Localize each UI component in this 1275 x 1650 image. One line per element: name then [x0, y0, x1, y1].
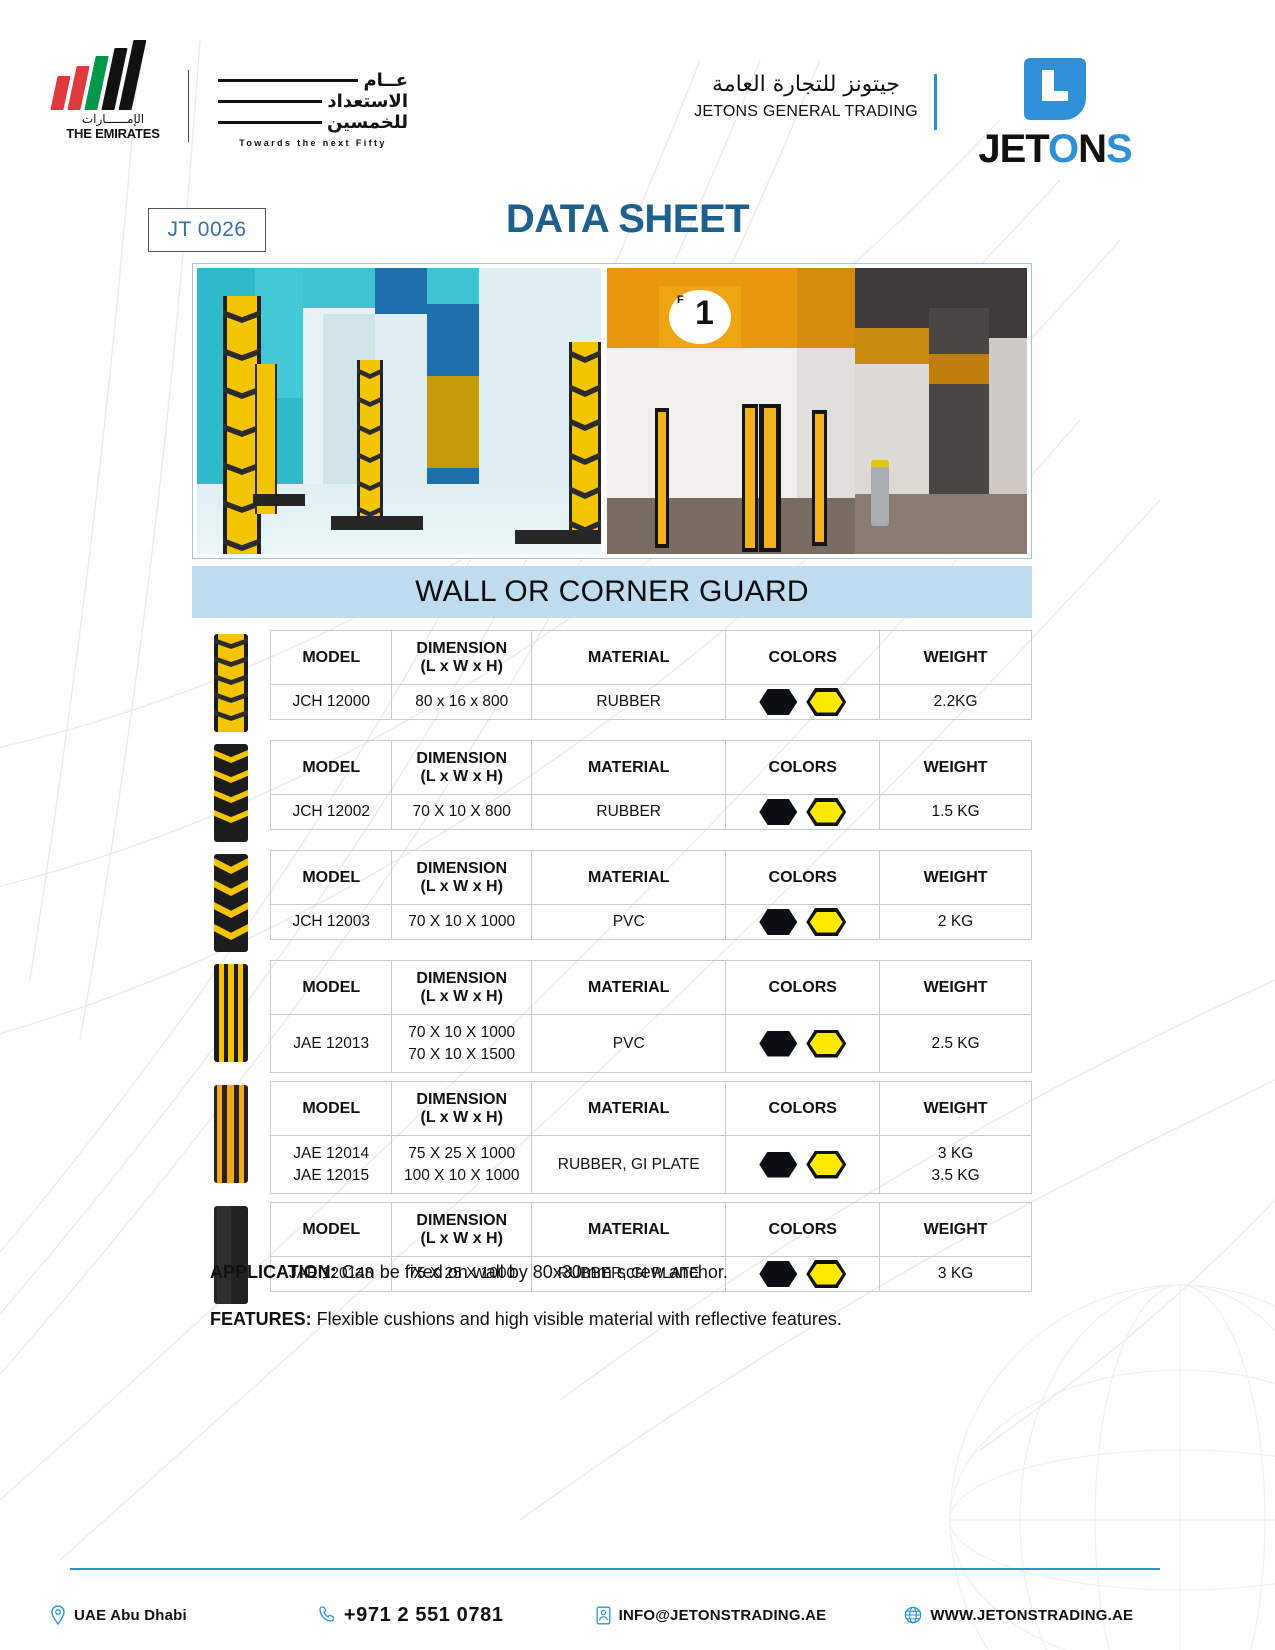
towards-next-fifty-logo: عــام الاستعداد للخمسين Towards the next…: [218, 70, 408, 148]
col-dimension-label: DIMENSION: [416, 970, 507, 987]
fifty-line-2: الاستعداد: [327, 92, 408, 111]
page-title: DATA SHEET: [0, 197, 1255, 242]
col-dimension: DIMENSION(L x W x H): [392, 1203, 532, 1257]
table-header-row: MODEL DIMENSION(L x W x H) MATERIAL COLO…: [271, 1203, 1032, 1257]
footer-phone-text: +971 2 551 0781: [344, 1604, 504, 1627]
col-colors: COLORS: [726, 741, 880, 795]
col-weight: WEIGHT: [880, 631, 1032, 685]
uae-label-arabic: الإمــــــارات: [48, 112, 178, 126]
cell-dimension-1: 70 X 10 X 1000: [394, 1024, 529, 1041]
spec-table: MODEL DIMENSION(L x W x H) MATERIAL COLO…: [270, 1081, 1032, 1194]
phone-icon: [319, 1605, 336, 1625]
footer-email-text: INFO@JETONSTRADING.AE: [619, 1607, 827, 1624]
col-weight-label: WEIGHT: [924, 869, 988, 886]
cell-model-2: JAE 12015: [273, 1167, 389, 1184]
cell-weight: 2.5 KG: [880, 1015, 1032, 1073]
cell-model-1: JAE 12014: [273, 1145, 389, 1162]
corner-guard-striped-pvc-icon: [214, 964, 248, 1062]
corner-guard-chevron-short-icon: [214, 634, 248, 732]
color-swatch-yellow-icon: [806, 1030, 846, 1058]
cell-weight: 1.5 KG: [880, 795, 1032, 830]
spec-block: MODEL DIMENSION(L x W x H) MATERIAL COLO…: [192, 960, 1032, 1073]
col-weight-label: WEIGHT: [924, 979, 988, 996]
col-dimension-label: DIMENSION: [416, 1212, 507, 1229]
col-colors-label: COLORS: [769, 1100, 837, 1117]
col-material-label: MATERIAL: [588, 1221, 669, 1238]
spec-block: MODEL DIMENSION(L x W x H) MATERIAL COLO…: [192, 740, 1032, 842]
table-header-row: MODEL DIMENSION(L x W x H) MATERIAL COLO…: [271, 631, 1032, 685]
col-material: MATERIAL: [532, 851, 726, 905]
color-swatch-black-icon: [759, 689, 797, 715]
product-thumbnail-cell: [192, 1081, 270, 1183]
product-thumbnail-cell: [192, 740, 270, 842]
col-dimension-sub: (L x W x H): [421, 1230, 503, 1247]
product-photo-left: [197, 268, 601, 554]
corner-guard-striped-rubber-icon: [214, 1085, 248, 1183]
col-weight: WEIGHT: [880, 741, 1032, 795]
col-weight-label: WEIGHT: [924, 1100, 988, 1117]
col-model: MODEL: [271, 741, 392, 795]
product-photo-strip: F 1: [192, 263, 1032, 559]
product-thumbnail-cell: [192, 960, 270, 1062]
corner-guard-chevron-medium-icon: [214, 744, 248, 842]
cell-dimension: 70 X 10 X 100070 X 10 X 1500: [392, 1015, 532, 1073]
cell-dimension: 70 X 10 X 800: [392, 795, 532, 830]
cell-dimension: 70 X 10 X 1000: [392, 905, 532, 940]
col-colors: COLORS: [726, 631, 880, 685]
spec-block: MODEL DIMENSION(L x W x H) MATERIAL COLO…: [192, 1081, 1032, 1194]
col-colors: COLORS: [726, 851, 880, 905]
spec-block: MODEL DIMENSION(L x W x H) MATERIAL COLO…: [192, 630, 1032, 732]
jetons-brand-logo: JETONS: [955, 58, 1155, 170]
color-swatch-yellow-icon: [806, 688, 846, 716]
col-model: MODEL: [271, 631, 392, 685]
wordmark-s: S: [1106, 127, 1132, 171]
cell-weight-1: 3 KG: [882, 1145, 1029, 1162]
table-row: JAE 12014JAE 12015 75 X 25 X 1000100 X 1…: [271, 1136, 1032, 1194]
table-header-row: MODEL DIMENSION(L x W x H) MATERIAL COLO…: [271, 851, 1032, 905]
col-colors: COLORS: [726, 1082, 880, 1136]
cell-material: RUBBER: [532, 795, 726, 830]
color-swatch-black-icon: [759, 1031, 797, 1057]
col-material-label: MATERIAL: [588, 649, 669, 666]
color-swatch-yellow-icon: [806, 908, 846, 936]
col-dimension-label: DIMENSION: [416, 860, 507, 877]
color-swatch-black-icon: [759, 799, 797, 825]
table-row: JCH 12002 70 X 10 X 800 RUBBER 1.5 KG: [271, 795, 1032, 830]
cell-colors: [726, 795, 880, 830]
col-dimension: DIMENSION(L x W x H): [392, 851, 532, 905]
cell-model: JCH 12000: [271, 685, 392, 720]
col-dimension-label: DIMENSION: [416, 750, 507, 767]
jetons-wordmark: JETONS: [955, 128, 1155, 170]
uae-government-logo: الإمــــــارات THE EMIRATES: [48, 40, 178, 150]
cell-material: PVC: [532, 1015, 726, 1073]
spec-table: MODEL DIMENSION(L x W x H) MATERIAL COLO…: [270, 740, 1032, 830]
fifty-line-1: عــام: [363, 71, 408, 90]
cell-model: JCH 12002: [271, 795, 392, 830]
footer-website[interactable]: WWW.JETONSTRADING.AE: [904, 1606, 1133, 1624]
location-pin-icon: [50, 1605, 66, 1625]
cell-dimension: 80 x 16 x 800: [392, 685, 532, 720]
col-colors-label: COLORS: [769, 979, 837, 996]
cell-model: JAE 12014JAE 12015: [271, 1136, 392, 1194]
product-thumbnail-cell: [192, 850, 270, 952]
company-name-block: جيتونز للتجارة العامة JETONS GENERAL TRA…: [690, 72, 922, 121]
col-weight-label: WEIGHT: [924, 649, 988, 666]
col-colors: COLORS: [726, 961, 880, 1015]
cell-model: JCH 12003: [271, 905, 392, 940]
col-dimension-sub: (L x W x H): [421, 768, 503, 785]
wordmark-n: N: [1078, 127, 1106, 171]
col-model: MODEL: [271, 851, 392, 905]
notes-section: APPLICATION: Can be fixed on wall by 80x…: [210, 1262, 1110, 1356]
col-material-label: MATERIAL: [588, 1100, 669, 1117]
col-weight-label: WEIGHT: [924, 1221, 988, 1238]
application-text: Can be fixed on wall by 80x30mm screw an…: [337, 1262, 728, 1282]
corner-guard-chevron-large-icon: [214, 854, 248, 952]
footer-divider: [70, 1568, 1160, 1570]
cell-colors: [726, 685, 880, 720]
col-model-label: MODEL: [302, 759, 360, 776]
col-model: MODEL: [271, 961, 392, 1015]
col-model-label: MODEL: [302, 869, 360, 886]
col-dimension-sub: (L x W x H): [421, 1109, 503, 1126]
cell-colors: [726, 1015, 880, 1073]
uae-flag-icon: [54, 40, 154, 110]
application-note: APPLICATION: Can be fixed on wall by 80x…: [210, 1262, 1110, 1283]
wordmark-jet: JET: [978, 127, 1048, 171]
col-colors-label: COLORS: [769, 759, 837, 776]
features-text: Flexible cushions and high visible mater…: [312, 1309, 842, 1329]
color-swatch-yellow-icon: [806, 798, 846, 826]
cell-dimension: 75 X 25 X 1000100 X 10 X 1000: [392, 1136, 532, 1194]
col-colors-label: COLORS: [769, 1221, 837, 1238]
col-dimension: DIMENSION(L x W x H): [392, 631, 532, 685]
fifty-tagline: Towards the next Fifty: [218, 138, 408, 148]
table-row: JCH 12000 80 x 16 x 800 RUBBER 2.2KG: [271, 685, 1032, 720]
product-thumbnail-cell: [192, 630, 270, 732]
jetons-j-logo-icon: [1024, 58, 1086, 120]
fifty-line-3: للخمسين: [327, 113, 408, 132]
features-note: FEATURES: Flexible cushions and high vis…: [210, 1309, 1110, 1330]
color-swatch-yellow-icon: [806, 1151, 846, 1179]
uae-label-english: THE EMIRATES: [48, 126, 178, 141]
cell-weight: 2 KG: [880, 905, 1032, 940]
col-material: MATERIAL: [532, 1203, 726, 1257]
col-dimension-sub: (L x W x H): [421, 658, 503, 675]
col-material: MATERIAL: [532, 1082, 726, 1136]
color-swatch-black-icon: [759, 1152, 797, 1178]
col-dimension-label: DIMENSION: [416, 640, 507, 657]
col-weight: WEIGHT: [880, 1082, 1032, 1136]
col-weight-label: WEIGHT: [924, 759, 988, 776]
company-name-arabic: جيتونز للتجارة العامة: [690, 72, 922, 97]
col-model-label: MODEL: [302, 649, 360, 666]
col-material-label: MATERIAL: [588, 979, 669, 996]
page-footer: UAE Abu Dhabi +971 2 551 0781 INFO@JETON…: [0, 1590, 1275, 1640]
table-header-row: MODEL DIMENSION(L x W x H) MATERIAL COLO…: [271, 1082, 1032, 1136]
cell-dimension-1: 75 X 25 X 1000: [394, 1145, 529, 1162]
features-label: FEATURES:: [210, 1309, 312, 1329]
col-colors: COLORS: [726, 1203, 880, 1257]
cell-dimension-2: 70 X 10 X 1500: [394, 1046, 529, 1063]
product-photo-right: F 1: [607, 268, 1027, 554]
page-header: الإمــــــارات THE EMIRATES عــام الاستع…: [0, 28, 1275, 148]
table-header-row: MODEL DIMENSION(L x W x H) MATERIAL COLO…: [271, 741, 1032, 795]
floor-sign-number: 1: [695, 296, 714, 330]
cell-colors: [726, 905, 880, 940]
col-dimension: DIMENSION(L x W x H): [392, 1082, 532, 1136]
col-model-label: MODEL: [302, 979, 360, 996]
footer-email[interactable]: INFO@JETONSTRADING.AE: [596, 1606, 827, 1625]
cell-colors: [726, 1136, 880, 1194]
cell-material: RUBBER, GI PLATE: [532, 1136, 726, 1194]
spec-block: MODEL DIMENSION(L x W x H) MATERIAL COLO…: [192, 850, 1032, 952]
col-colors-label: COLORS: [769, 649, 837, 666]
col-dimension-label: DIMENSION: [416, 1091, 507, 1108]
product-name-banner: WALL OR CORNER GUARD: [192, 566, 1032, 618]
specification-tables: MODEL DIMENSION(L x W x H) MATERIAL COLO…: [192, 630, 1032, 1312]
table-header-row: MODEL DIMENSION(L x W x H) MATERIAL COLO…: [271, 961, 1032, 1015]
col-weight: WEIGHT: [880, 851, 1032, 905]
col-dimension: DIMENSION(L x W x H): [392, 741, 532, 795]
cell-weight-2: 3.5 KG: [882, 1167, 1029, 1184]
globe-icon: [904, 1606, 922, 1624]
wordmark-o: O: [1048, 127, 1078, 171]
col-material: MATERIAL: [532, 631, 726, 685]
company-name-english: JETONS GENERAL TRADING: [690, 103, 922, 121]
header-divider-right: [934, 74, 937, 130]
col-dimension: DIMENSION(L x W x H): [392, 961, 532, 1015]
col-weight: WEIGHT: [880, 1203, 1032, 1257]
floor-sign-letter: F: [677, 294, 684, 306]
spec-table: MODEL DIMENSION(L x W x H) MATERIAL COLO…: [270, 960, 1032, 1073]
footer-phone[interactable]: +971 2 551 0781: [319, 1604, 504, 1627]
col-material: MATERIAL: [532, 741, 726, 795]
col-material-label: MATERIAL: [588, 759, 669, 776]
spec-table: MODEL DIMENSION(L x W x H) MATERIAL COLO…: [270, 850, 1032, 940]
email-icon: [596, 1606, 611, 1625]
col-weight: WEIGHT: [880, 961, 1032, 1015]
footer-location: UAE Abu Dhabi: [50, 1605, 187, 1625]
application-label: APPLICATION:: [210, 1262, 337, 1282]
spec-table: MODEL DIMENSION(L x W x H) MATERIAL COLO…: [270, 630, 1032, 720]
col-dimension-sub: (L x W x H): [421, 878, 503, 895]
cell-weight: 2.2KG: [880, 685, 1032, 720]
col-colors-label: COLORS: [769, 869, 837, 886]
footer-website-text: WWW.JETONSTRADING.AE: [930, 1607, 1133, 1624]
col-dimension-sub: (L x W x H): [421, 988, 503, 1005]
col-model-label: MODEL: [302, 1221, 360, 1238]
footer-location-text: UAE Abu Dhabi: [74, 1607, 187, 1624]
col-material: MATERIAL: [532, 961, 726, 1015]
table-row: JCH 12003 70 X 10 X 1000 PVC 2 KG: [271, 905, 1032, 940]
col-material-label: MATERIAL: [588, 869, 669, 886]
cell-weight: 3 KG3.5 KG: [880, 1136, 1032, 1194]
cell-material: PVC: [532, 905, 726, 940]
col-model: MODEL: [271, 1082, 392, 1136]
header-divider-left: [188, 70, 189, 142]
cell-model: JAE 12013: [271, 1015, 392, 1073]
col-model: MODEL: [271, 1203, 392, 1257]
cell-dimension-2: 100 X 10 X 1000: [394, 1167, 529, 1184]
color-swatch-black-icon: [759, 909, 797, 935]
col-model-label: MODEL: [302, 1100, 360, 1117]
table-row: JAE 12013 70 X 10 X 100070 X 10 X 1500 P…: [271, 1015, 1032, 1073]
cell-material: RUBBER: [532, 685, 726, 720]
